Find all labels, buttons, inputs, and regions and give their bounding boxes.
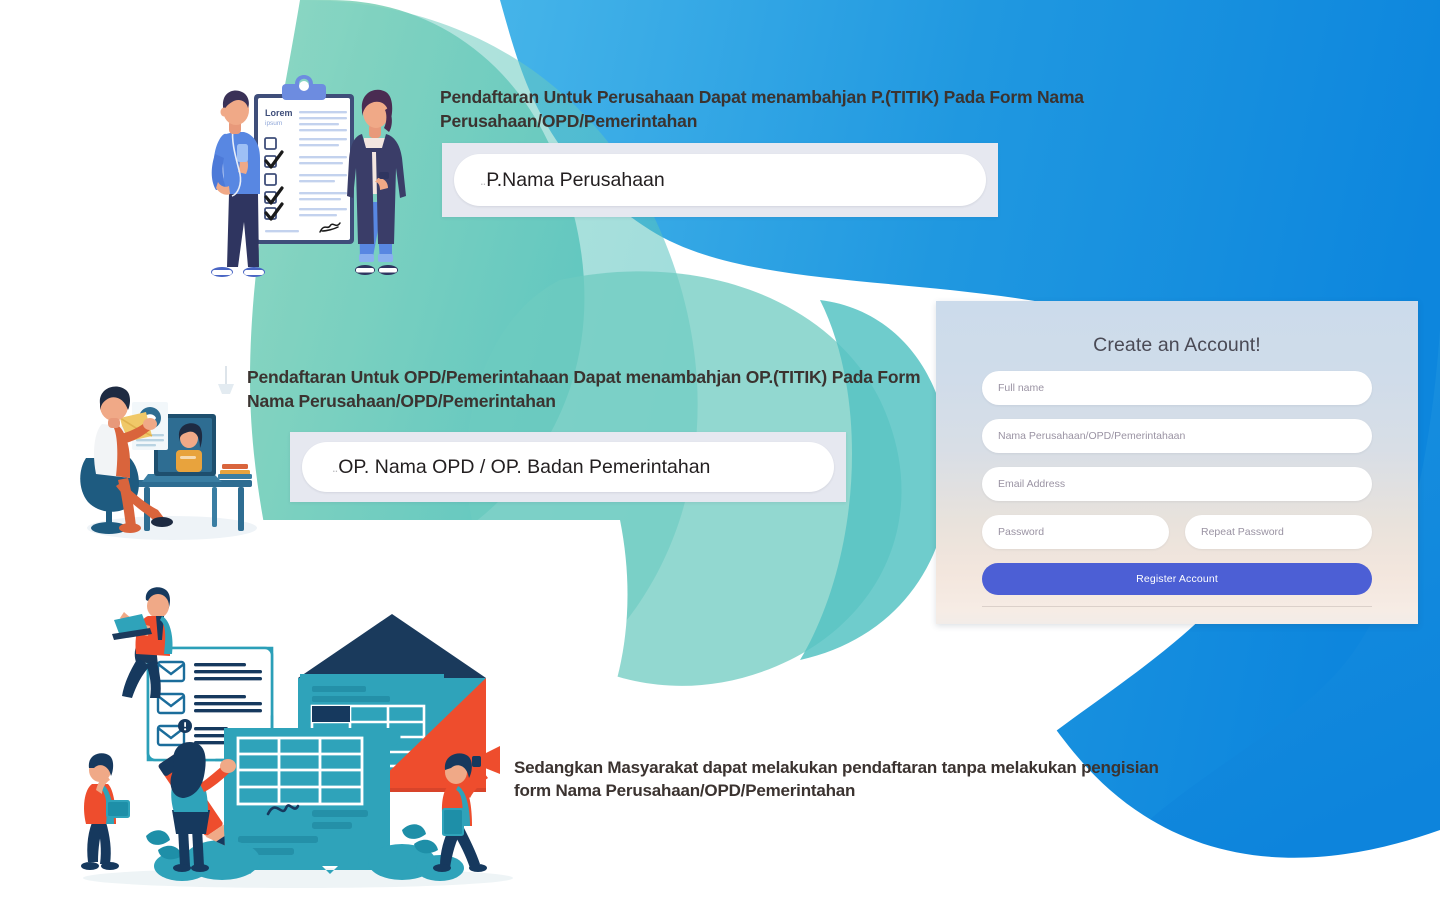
page-root: Lorem ipsum xyxy=(0,0,1440,900)
email-document-envelope-illustration xyxy=(72,578,524,900)
company-name-input-panel[interactable]: .. P.Nama Perusahaan xyxy=(442,143,998,217)
organization-field[interactable]: Nama Perusahaan/OPD/Pemerintahaan xyxy=(982,419,1372,453)
full-name-placeholder: Full name xyxy=(998,382,1044,394)
repeat-password-field[interactable]: Repeat Password xyxy=(1185,515,1372,549)
organization-row: Nama Perusahaan/OPD/Pemerintahaan xyxy=(982,419,1372,453)
repeat-password-placeholder: Repeat Password xyxy=(1201,526,1284,538)
opd-name-input-panel[interactable]: .. OP. Nama OPD / OP. Badan Pemerintahan xyxy=(290,432,846,502)
password-placeholder: Password xyxy=(998,526,1044,538)
headline-opd-registration: Pendaftaran Untuk OPD/Pemerintahaan Dapa… xyxy=(247,366,937,413)
full-name-row: Full name xyxy=(982,371,1372,405)
text-cursor-icon: .. xyxy=(480,173,485,188)
opd-name-input-value: OP. Nama OPD / OP. Badan Pemerintahan xyxy=(338,456,710,479)
email-placeholder: Email Address xyxy=(998,478,1065,490)
company-name-input-value: P.Nama Perusahaan xyxy=(486,169,665,192)
create-account-card: Create an Account! Full name Nama Perusa… xyxy=(936,301,1418,624)
card-divider xyxy=(982,606,1372,607)
email-row: Email Address xyxy=(982,467,1372,501)
clipboard-doc-subtitle: ipsum xyxy=(265,120,282,127)
register-account-button[interactable]: Register Account xyxy=(982,563,1372,595)
card-title: Create an Account! xyxy=(982,301,1372,357)
clipboard-person-right xyxy=(347,90,406,275)
email-field[interactable]: Email Address xyxy=(982,467,1372,501)
company-name-input[interactable]: .. P.Nama Perusahaan xyxy=(454,154,986,206)
password-field[interactable]: Password xyxy=(982,515,1169,549)
mail-person-left xyxy=(81,753,130,870)
register-account-button-label: Register Account xyxy=(1136,573,1218,585)
clipboard-doc-title: Lorem xyxy=(265,108,293,118)
password-row: Password Repeat Password xyxy=(982,515,1372,549)
clipboard-checklist-illustration: Lorem ipsum xyxy=(196,62,432,298)
headline-public-registration: Sedangkan Masyarakat dapat melakukan pen… xyxy=(514,757,1184,803)
headline-company-registration: Pendaftaran Untuk Perusahaan Dapat menam… xyxy=(440,86,1170,133)
person-at-desk-video-call-illustration xyxy=(72,362,274,544)
organization-placeholder: Nama Perusahaan/OPD/Pemerintahaan xyxy=(998,430,1185,442)
full-name-field[interactable]: Full name xyxy=(982,371,1372,405)
text-cursor-icon: .. xyxy=(332,460,337,475)
opd-name-input[interactable]: .. OP. Nama OPD / OP. Badan Pemerintahan xyxy=(302,442,834,492)
